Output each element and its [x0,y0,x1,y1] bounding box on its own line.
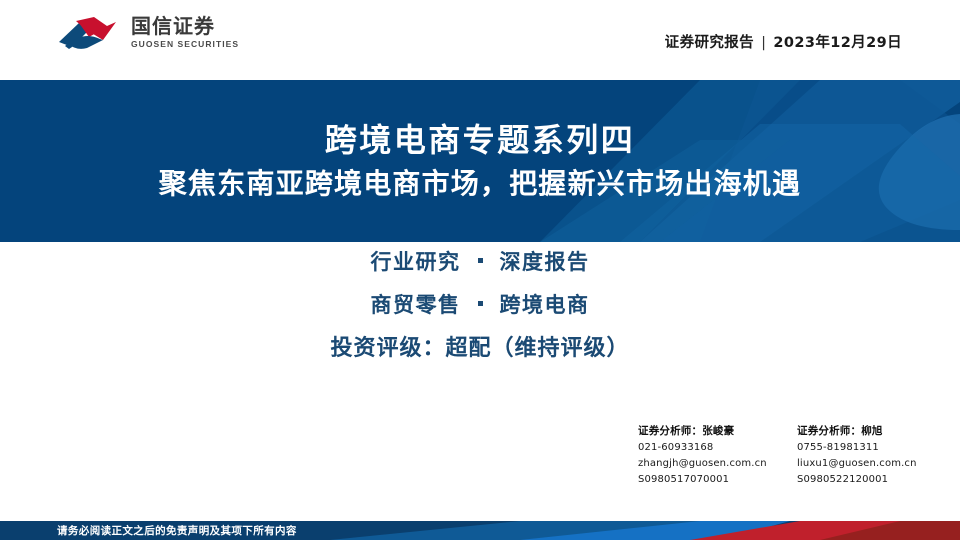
brand-logo: 国信证券 GUOSEN SECURITIES [57,14,239,52]
analyst-phone: 0755-81981311 [797,440,938,456]
report-title-sub: 聚焦东南亚跨境电商市场，把握新兴市场出海机遇 [159,166,801,202]
deep-report-label: 深度报告 [500,252,590,273]
analyst-name: 证券分析师：柳旭 [797,424,938,440]
subsector-label: 跨境电商 [500,295,590,316]
brand-name-en: GUOSEN SECURITIES [131,39,239,50]
bullet-dot-icon [478,258,483,263]
analyst-license: S0980522120001 [797,472,938,488]
analyst-email[interactable]: zhangjh@guosen.com.cn [638,456,779,472]
industry-research-label: 行业研究 [371,252,461,273]
analyst-license: S0980517070001 [638,472,779,488]
investment-rating: 投资评级：超配（维持评级） [330,338,629,360]
analyst-entry: 证券分析师：张峻豪 021-60933168 zhangjh@guosen.co… [638,424,779,488]
report-title-main: 跨境电商专题系列四 [325,120,636,161]
sector-label: 商贸零售 [371,295,461,316]
analyst-phone: 021-60933168 [638,440,779,456]
page-footer: 请务必阅读正文之后的免责声明及其项下所有内容 [0,521,960,540]
analyst-contact-block: 证券分析师：张峻豪 021-60933168 zhangjh@guosen.co… [638,424,938,488]
info-line-research-type: 行业研究 深度报告 [371,252,590,273]
bullet-dot-icon [478,301,483,306]
analyst-email[interactable]: liuxu1@guosen.com.cn [797,456,938,472]
footer-disclaimer: 请务必阅读正文之后的免责声明及其项下所有内容 [57,521,297,540]
title-banner: 跨境电商专题系列四 聚焦东南亚跨境电商市场，把握新兴市场出海机遇 [0,80,960,242]
info-line-sector: 商贸零售 跨境电商 [371,295,590,316]
banner-title-group: 跨境电商专题系列四 聚焦东南亚跨境电商市场，把握新兴市场出海机遇 [0,80,960,242]
report-info-block: 行业研究 深度报告 商贸零售 跨境电商 投资评级：超配（维持评级） [0,252,960,360]
report-type-label: 证券研究报告 [665,35,754,51]
header-report-meta: 证券研究报告|2023年12月29日 [665,31,902,52]
guosen-logo-icon [57,14,122,52]
brand-logo-text: 国信证券 GUOSEN SECURITIES [131,15,239,50]
header-separator: | [754,35,773,51]
brand-name-cn: 国信证券 [131,15,239,37]
analyst-entry: 证券分析师：柳旭 0755-81981311 liuxu1@guosen.com… [797,424,938,488]
report-date: 2023年12月29日 [773,35,902,51]
analyst-name: 证券分析师：张峻豪 [638,424,779,440]
page-header: 国信证券 GUOSEN SECURITIES 证券研究报告|2023年12月29… [0,0,960,80]
